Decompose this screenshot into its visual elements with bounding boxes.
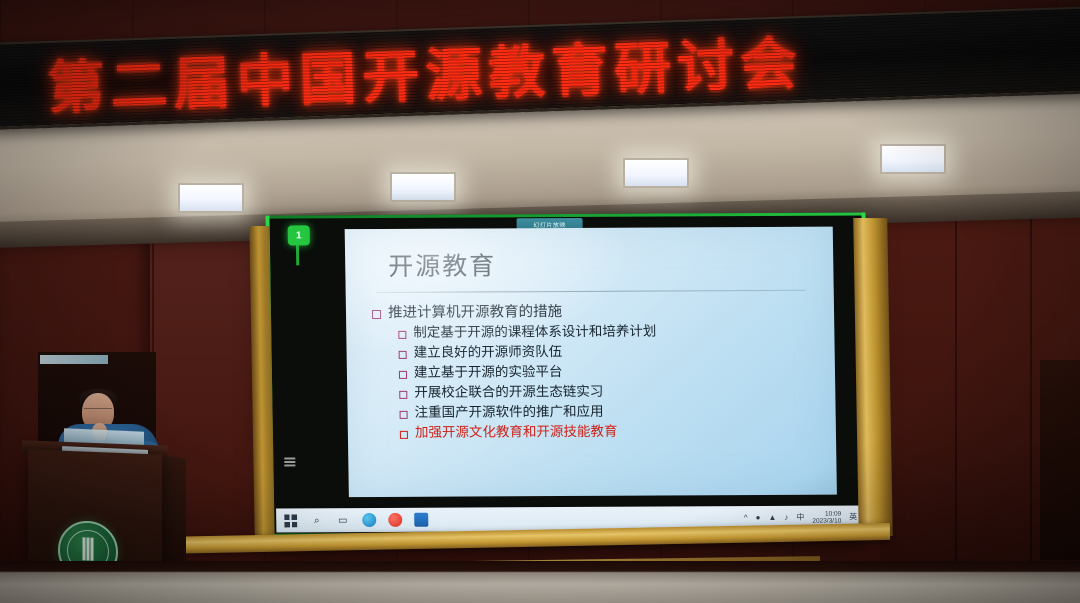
wall-seam: [955, 190, 957, 603]
stage-floor: [0, 561, 1080, 603]
bullet-text: 注重国产开源软件的推广和应用: [414, 405, 603, 422]
list-item: 制定基于开源的课程体系设计和培养计划: [372, 324, 822, 342]
bullet-text: 加强开源文化教育和开源技能教育: [415, 424, 618, 441]
emblem-mark-icon: [80, 537, 97, 561]
taskbar-icon-group: ⌕ ▭: [276, 512, 428, 528]
ceiling-light-3: [623, 158, 689, 188]
bullet-square-icon: [399, 371, 407, 379]
projection-screen: 1 幻灯片放映 开源教育 推进计算机开源教育的措施 制定基于开源的课程体系设计和…: [265, 212, 870, 537]
volume-icon[interactable]: ♪: [784, 514, 788, 522]
bullet-square-icon: [400, 411, 408, 419]
list-item: 注重国产开源软件的推广和应用: [373, 403, 823, 421]
conference-hall-photo: 第二届中国开源教育研讨会 1 幻灯片放映 开源教育 推进计算机开源教育的措施: [0, 0, 1080, 603]
list-item: 推进计算机开源教育的措施: [372, 303, 822, 322]
bullet-text: 制定基于开源的课程体系设计和培养计划: [413, 325, 656, 342]
ceiling-light-2: [390, 172, 456, 202]
list-item: 建立良好的开源师资队伍: [373, 344, 823, 362]
windows-start-icon[interactable]: [283, 513, 298, 528]
ppt-slide: 开源教育 推进计算机开源教育的措施 制定基于开源的课程体系设计和培养计划 建立良…: [345, 227, 837, 498]
wall-seam: [1030, 190, 1032, 603]
niche-light-strip: [40, 355, 108, 364]
ceiling-light-4: [880, 144, 946, 174]
usb-icon[interactable]: ●: [756, 514, 761, 522]
language-indicator[interactable]: 英: [849, 513, 857, 521]
bullet-square-icon: [399, 391, 407, 399]
taskbar-clock[interactable]: 10:09 2023/3/10: [812, 510, 841, 525]
list-item: 建立基于开源的实验平台: [373, 364, 823, 382]
ime-indicator[interactable]: 中: [796, 514, 804, 522]
screen-trim-right: [853, 218, 893, 536]
bullet-square-icon: [400, 431, 408, 439]
hamburger-icon[interactable]: [284, 457, 295, 466]
recording-icon[interactable]: [387, 512, 402, 527]
list-item: 开展校企联合的开源生态链实习: [373, 384, 823, 402]
photos-app-icon[interactable]: [413, 512, 428, 527]
ceiling-light-1: [178, 183, 244, 213]
bullet-text: 推进计算机开源教育的措施: [388, 304, 562, 322]
list-item-highlighted: 加强开源文化教育和开源技能教育: [374, 423, 824, 441]
search-icon[interactable]: ⌕: [309, 513, 324, 528]
bullet-text: 建立良好的开源师资队伍: [414, 345, 563, 362]
bullet-text: 开展校企联合的开源生态链实习: [414, 385, 603, 402]
slide-bullet-list: 推进计算机开源教育的措施 制定基于开源的课程体系设计和培养计划 建立良好的开源师…: [372, 303, 824, 446]
slide-title: 开源教育: [388, 246, 497, 283]
right-wall-cabinet: [1040, 360, 1080, 560]
screen-corner-tag-tail: [296, 243, 299, 265]
bullet-square-icon: [372, 310, 381, 319]
network-icon[interactable]: ▲: [768, 514, 776, 522]
bullet-square-icon: [398, 331, 406, 339]
glasses-icon: [84, 408, 112, 415]
bullet-square-icon: [399, 351, 407, 359]
chevron-up-icon[interactable]: ^: [744, 514, 748, 522]
slide-title-divider: [376, 290, 806, 293]
edge-browser-icon[interactable]: [361, 512, 376, 527]
bullet-text: 建立基于开源的实验平台: [414, 365, 563, 382]
task-view-icon[interactable]: ▭: [335, 513, 350, 528]
